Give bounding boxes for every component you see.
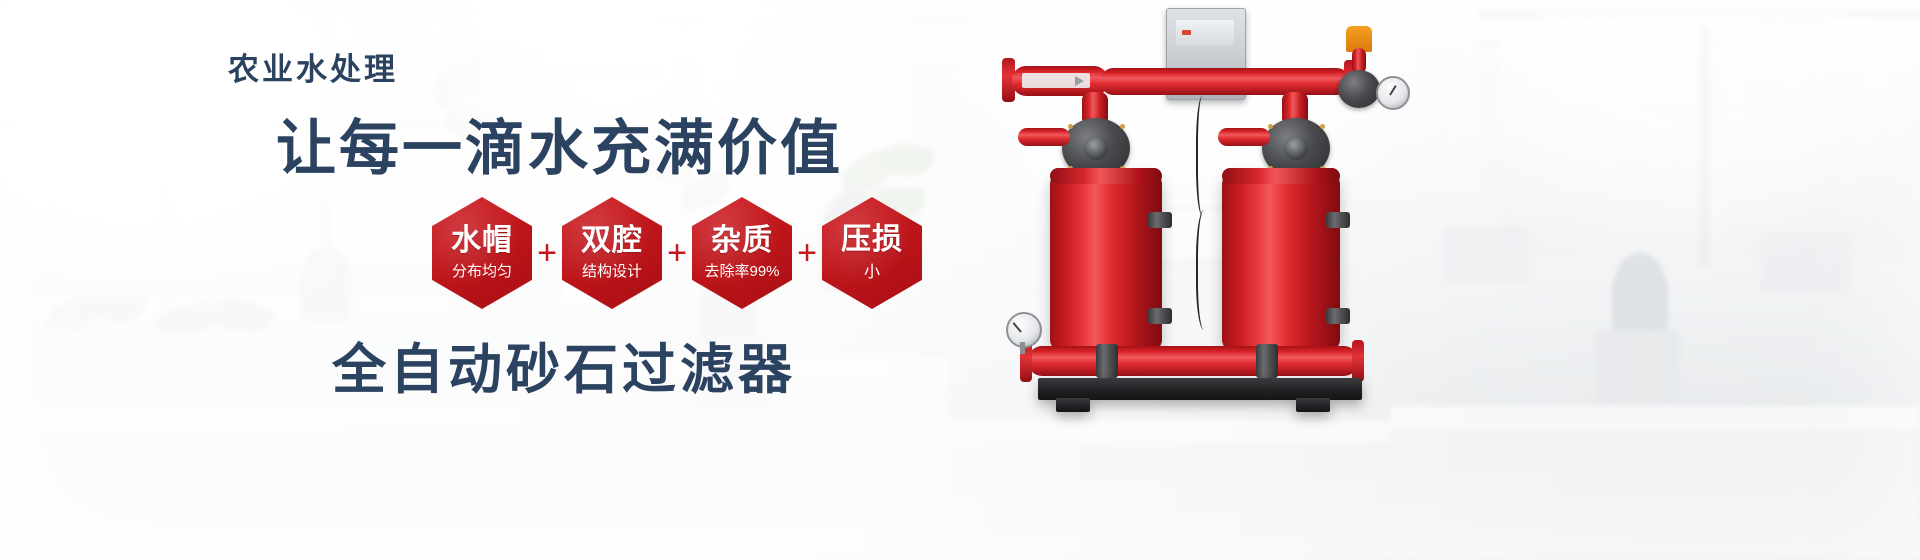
relief-valve-body xyxy=(1338,70,1380,108)
feature-badge-4-title: 压损 xyxy=(841,224,903,256)
feature-badge-3: 杂质 去除率99% xyxy=(692,197,792,309)
tank-clamp-right xyxy=(1326,212,1350,228)
feature-badge-4: 压损 小 xyxy=(822,197,922,309)
control-cable xyxy=(1196,210,1216,330)
feature-badge-2-title: 双腔 xyxy=(581,225,643,257)
feature-badge-1-subtitle: 分布均匀 xyxy=(452,260,512,281)
pressure-gauge-top xyxy=(1376,76,1410,110)
product-image-sand-filter: BANGCARA xyxy=(1000,0,1520,560)
side-nipple-left xyxy=(1018,128,1070,146)
flow-arrow-label xyxy=(1022,73,1090,88)
banner-copy: 农业水处理 让每一滴水充满价值 水帽 分布均匀 + 双腔 结构设计 + 杂质 去… xyxy=(0,0,1000,560)
tank-clamp-left-lower xyxy=(1148,308,1172,324)
valve-bolt xyxy=(1120,124,1125,129)
feature-badge-3-subtitle: 去除率99% xyxy=(704,260,779,281)
bottom-clamp-b xyxy=(1256,344,1278,378)
control-cable xyxy=(1196,96,1212,216)
tank-top-cap-left xyxy=(1050,168,1162,184)
promo-banner: BANGCARA xyxy=(0,0,1920,560)
tank-clamp-right-lower xyxy=(1326,308,1350,324)
valve-hub xyxy=(1284,136,1308,160)
feature-badge-4-subtitle: 小 xyxy=(864,258,880,282)
eyebrow-text: 农业水处理 xyxy=(228,44,398,89)
gauge-stem xyxy=(1020,342,1025,354)
filter-tank-right xyxy=(1222,172,1340,350)
skid-foot-right xyxy=(1296,398,1330,412)
filter-tank-left xyxy=(1050,172,1162,350)
bottom-manifold-flange-right xyxy=(1352,340,1364,382)
feature-badge-1-title: 水帽 xyxy=(451,225,513,257)
feature-badge-2: 双腔 结构设计 xyxy=(562,197,662,309)
top-manifold xyxy=(1100,68,1350,95)
feature-badge-1: 水帽 分布均匀 xyxy=(432,197,532,309)
control-box-indicator xyxy=(1182,30,1191,35)
skid-foot-left xyxy=(1056,398,1090,412)
plus-separator-1: + xyxy=(530,236,564,270)
side-nipple-right xyxy=(1218,128,1270,146)
tank-clamp-left xyxy=(1148,212,1172,228)
bottom-clamp-a xyxy=(1096,344,1118,378)
valve-hub xyxy=(1084,136,1108,160)
page-title: 让每一滴水充满价值 xyxy=(276,100,843,187)
tank-top-cap-right xyxy=(1222,168,1340,184)
feature-badge-list: 水帽 分布均匀 + 双腔 结构设计 + 杂质 去除率99% + 压损 小 xyxy=(432,197,922,309)
plus-separator-3: + xyxy=(790,236,824,270)
feature-badge-3-title: 杂质 xyxy=(711,225,773,257)
plus-separator-2: + xyxy=(660,236,694,270)
valve-bolt xyxy=(1268,124,1273,129)
feature-badge-2-subtitle: 结构设计 xyxy=(582,260,642,281)
steel-skid xyxy=(1038,378,1362,400)
product-name-title: 全自动砂石过滤器 xyxy=(332,325,796,404)
bottom-manifold xyxy=(1028,346,1358,376)
valve-bolt xyxy=(1320,124,1325,129)
valve-bolt xyxy=(1068,124,1073,129)
